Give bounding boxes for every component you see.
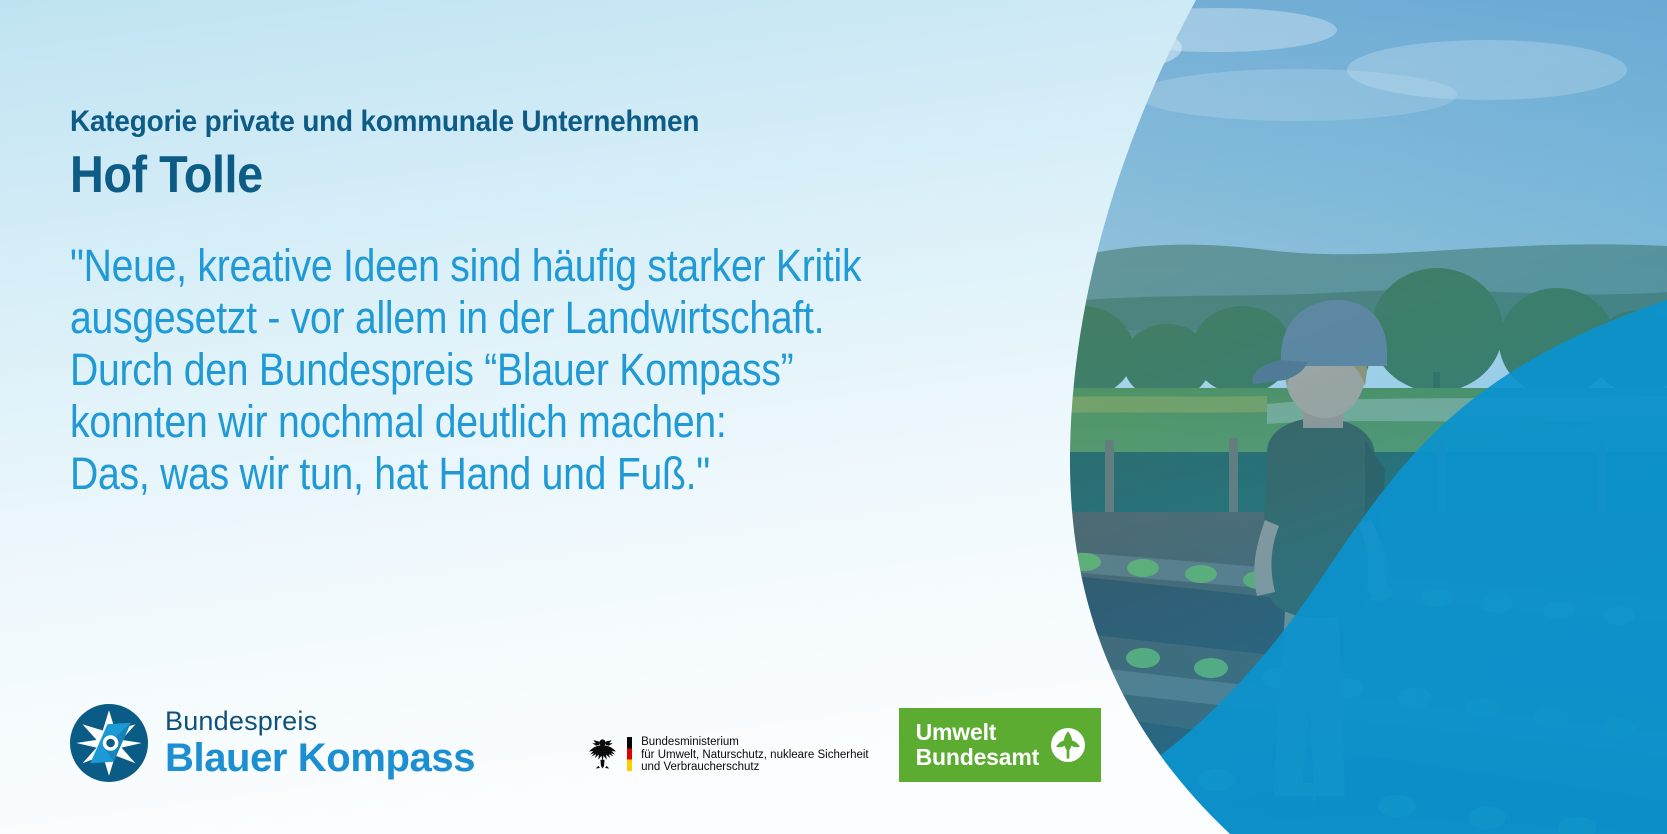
category-label: Kategorie private und kommunale Unterneh… [70,105,699,139]
uba-leaf-circle-icon [1051,728,1085,762]
blauer-kompass-logo: Bundespreis Blauer Kompass [70,704,475,782]
blauer-kompass-line2: Blauer Kompass [165,738,475,778]
umweltbundesamt-logo: Umwelt Bundesamt [899,708,1101,782]
uba-line1: Umwelt [916,720,1039,744]
project-title: Hof Tolle [70,148,263,203]
bmuv-line2: für Umwelt, Naturschutz, nukleare Sicher… [641,749,869,762]
german-flag-bar-icon [627,737,632,771]
bmuv-line3: und Verbraucherschutz [641,761,869,774]
logo-row: Bundespreis Blauer Kompass Bundesminis [70,696,1101,782]
federal-eagle-icon [587,736,618,769]
compass-star-icon [70,704,148,782]
quote-text: "Neue, kreative Ideen sind häufig starke… [70,240,861,500]
bmuv-logo: Bundesministerium für Umwelt, Naturschut… [587,736,869,782]
blauer-kompass-line1: Bundespreis [165,708,475,735]
poster-canvas: Kategorie private und kommunale Unterneh… [0,0,1667,834]
bmuv-text: Bundesministerium für Umwelt, Naturschut… [641,736,869,774]
bmuv-line1: Bundesministerium [641,736,869,749]
uba-line2: Bundesamt [916,745,1039,769]
